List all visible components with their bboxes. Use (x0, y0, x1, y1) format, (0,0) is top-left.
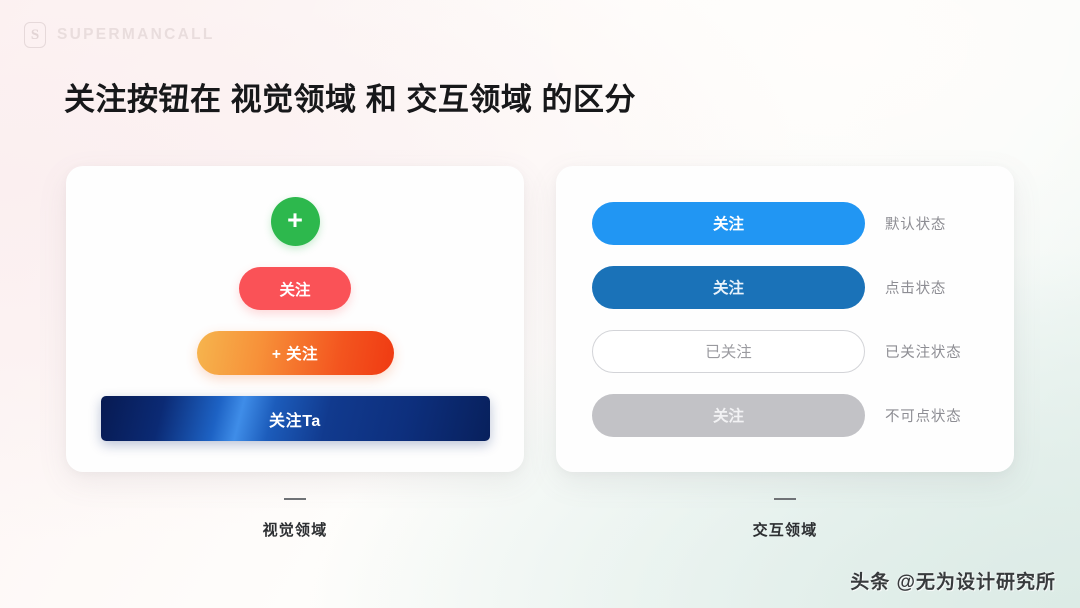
interaction-domain-caption-text: 交互领域 (753, 519, 818, 540)
page-title: 关注按钮在 视觉领域 和 交互领域 的区分 (64, 74, 636, 119)
red-pill-follow-label: 关注 (279, 278, 310, 300)
visual-button-stack: + 关注 + 关注 关注Ta (66, 166, 524, 472)
interaction-domain-card: 关注 默认状态 关注 点击状态 已关注 已关注状态 关注 不 (556, 166, 1014, 472)
orange-gradient-follow-button[interactable]: + 关注 (197, 331, 394, 375)
plus-icon: + (287, 207, 303, 234)
state-label-followed: 已关注状态 (885, 341, 962, 362)
state-label-pressed: 点击状态 (885, 277, 946, 298)
navy-gradient-follow-label: 关注Ta (269, 407, 321, 431)
follow-button-followed[interactable]: 已关注 (592, 330, 865, 373)
follow-button-followed-label: 已关注 (705, 340, 752, 362)
slide-canvas: S SUPERMANCALL 关注按钮在 视觉领域 和 交互领域 的区分 + 关… (0, 0, 1080, 608)
orange-gradient-follow-label: + 关注 (272, 342, 318, 364)
plus-circle-follow-button[interactable]: + (271, 197, 320, 246)
brand-logo: S SUPERMANCALL (24, 22, 215, 48)
caption-divider (774, 498, 796, 500)
follow-button-disabled: 关注 (592, 394, 865, 437)
red-pill-follow-button[interactable]: 关注 (239, 267, 351, 310)
state-label-default: 默认状态 (885, 213, 946, 234)
state-row: 关注 不可点状态 (592, 394, 1014, 437)
state-row: 关注 默认状态 (592, 202, 1014, 245)
follow-button-pressed-label: 关注 (713, 276, 744, 298)
supermancall-logo-icon: S (24, 22, 46, 48)
logo-letter: S (31, 28, 39, 43)
visual-domain-caption: 视觉领域 (66, 498, 524, 540)
state-row: 已关注 已关注状态 (592, 330, 1014, 373)
state-label-disabled: 不可点状态 (885, 405, 962, 426)
interaction-domain-caption: 交互领域 (556, 498, 1014, 540)
follow-button-default[interactable]: 关注 (592, 202, 865, 245)
watermark: 头条 @无为设计研究所 (850, 567, 1056, 594)
visual-domain-caption-text: 视觉领域 (263, 519, 328, 540)
caption-divider (284, 498, 306, 500)
follow-button-default-label: 关注 (713, 212, 744, 234)
brand-wordmark: SUPERMANCALL (57, 26, 215, 44)
follow-button-pressed[interactable]: 关注 (592, 266, 865, 309)
follow-button-disabled-label: 关注 (713, 404, 744, 426)
navy-gradient-follow-button[interactable]: 关注Ta (101, 396, 490, 441)
state-row: 关注 点击状态 (592, 266, 1014, 309)
state-row-list: 关注 默认状态 关注 点击状态 已关注 已关注状态 关注 不 (556, 166, 1014, 472)
visual-domain-card: + 关注 + 关注 关注Ta (66, 166, 524, 472)
